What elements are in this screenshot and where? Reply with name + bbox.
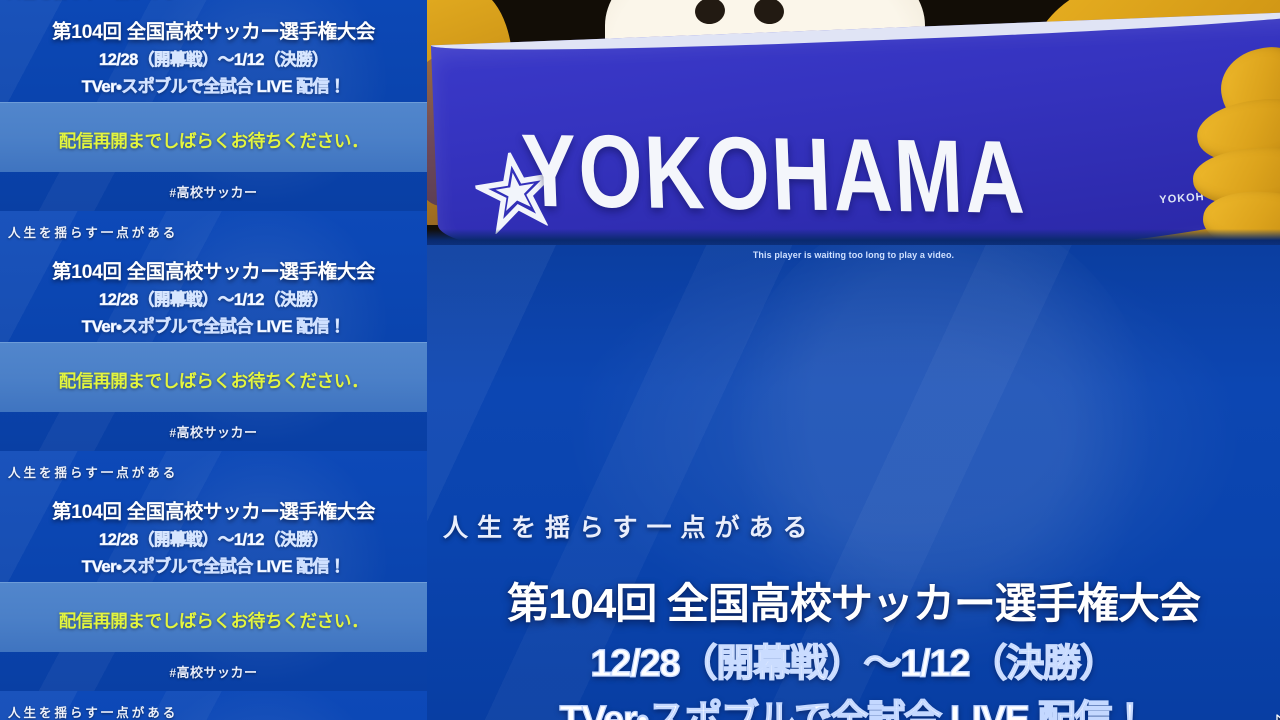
scarf-team-name: YOKOHAMA <box>520 113 1029 238</box>
strip-waiting-message: 配信再開までしばらくお待ちください． <box>0 128 427 153</box>
strip-streaming-line: TVer・スポブルで全試合 LIVE 配信！ <box>0 312 427 337</box>
strip-title: 第104回 全国高校サッカー選手権大会 <box>0 495 427 524</box>
strip-date-range: 12/28（開幕戦）〜1/12（決勝） <box>0 46 427 70</box>
strip-waiting-message: 配信再開までしばらくお待ちください． <box>0 608 427 633</box>
strip-tagline: 人生を揺らす一点がある <box>8 462 178 481</box>
strip-tagline: 人生を揺らす一点がある <box>8 222 178 241</box>
strip-hashtag: #高校サッカー <box>0 422 427 441</box>
strip-hashtag: #高校サッカー <box>0 182 427 201</box>
strip-panel[interactable]: 人生を揺らす一点がある 第104回 全国高校サッカー選手権大会 12/28（開幕… <box>0 451 427 691</box>
player-status-message: This player is waiting too long to play … <box>427 250 1280 260</box>
strip-date-range: 12/28（開幕戦）〜1/12（決勝） <box>0 286 427 310</box>
video-thumbnail-pane[interactable]: YOKOHAMA YOKOH S <box>427 0 1280 245</box>
strip-title: 第104回 全国高校サッカー選手権大会 <box>0 15 427 44</box>
strip-hashtag: #高校サッカー <box>0 662 427 681</box>
main-billboard: This player is waiting too long to play … <box>427 245 1280 720</box>
screen-root: 人生を揺らす一点がある 第104回 全国高校サッカー選手権大会 12/28（開幕… <box>0 0 1280 720</box>
strip-tagline: 人生を揺らす一点がある <box>8 702 178 720</box>
strip-streaming-line: TVer・スポブルで全試合 LIVE 配信！ <box>0 552 427 577</box>
strip-date-range: 12/28（開幕戦）〜1/12（決勝） <box>0 526 427 550</box>
event-date-range: 12/28（開幕戦）〜1/12（決勝） <box>427 632 1280 687</box>
video-bottom-fade <box>427 229 1280 245</box>
strip-tagline: 人生を揺らす一点がある <box>8 0 178 1</box>
strip-streaming-line: TVer・スポブルで全試合 LIVE 配信！ <box>0 72 427 97</box>
event-streaming-line: TVer・スポブルで全試合 LIVE 配信！ <box>427 688 1280 720</box>
yokohama-scarf: YOKOHAMA YOKOH S <box>431 11 1280 245</box>
strip-title: 第104回 全国高校サッカー選手権大会 <box>0 255 427 284</box>
event-title: 第104回 全国高校サッカー選手権大会 <box>427 570 1280 631</box>
mascot-paw <box>1169 48 1280 245</box>
strip-waiting-message: 配信再開までしばらくお待ちください． <box>0 368 427 393</box>
strip-panel[interactable]: 人生を揺らす一点がある 第104回 全国高校サッカー選手権大会 12/28（開幕… <box>0 691 427 720</box>
event-tagline: 人生を揺らす一点がある <box>443 508 817 544</box>
left-thumbnail-strip: 人生を揺らす一点がある 第104回 全国高校サッカー選手権大会 12/28（開幕… <box>0 0 427 720</box>
strip-panel[interactable]: 人生を揺らす一点がある 第104回 全国高校サッカー選手権大会 12/28（開幕… <box>0 211 427 451</box>
strip-panel[interactable]: 人生を揺らす一点がある 第104回 全国高校サッカー選手権大会 12/28（開幕… <box>0 0 427 211</box>
